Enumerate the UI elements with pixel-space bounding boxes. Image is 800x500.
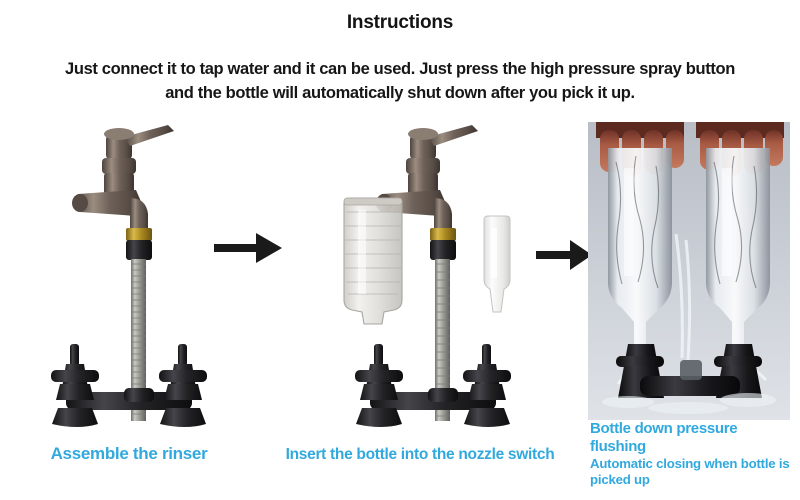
brass-adapter-icon: [430, 228, 456, 241]
step-2-illustration: [292, 112, 537, 430]
hose-collar-icon: [430, 240, 456, 260]
step-3-caption: Bottle down pressure flushing: [590, 420, 790, 455]
arrow-step2-to-step3: [534, 236, 594, 274]
nozzle-left-icon: [51, 344, 99, 400]
rinser-base-icon: [355, 344, 511, 427]
rinser-base-icon: [51, 344, 207, 427]
nozzle-left-icon: [355, 344, 403, 400]
hose-collar-icon: [126, 240, 152, 260]
inverted-bottle-icon: [344, 198, 402, 324]
step-2-caption: Insert the bottle into the nozzle switch: [270, 446, 570, 464]
rinser-with-bottle-drawing: [292, 112, 537, 430]
instructions-infographic: Instructions Just connect it to tap wate…: [0, 0, 800, 500]
arrow-step1-to-step2: [212, 228, 284, 268]
nozzle-right-icon: [463, 344, 511, 400]
page-title: Instructions: [0, 12, 800, 34]
brass-adapter-icon: [126, 228, 152, 241]
step-3-illustration: [588, 122, 790, 420]
rinsing-photo: [588, 122, 790, 420]
step-3-caption-secondary: Automatic closing when bottle is picked …: [590, 456, 795, 487]
step-1-caption: Assemble the rinser: [18, 444, 240, 464]
step-1-illustration: [18, 112, 240, 430]
spare-nozzle-bottle-icon: [484, 216, 510, 312]
page-subtitle: Just connect it to tap water and it can …: [62, 57, 738, 105]
rinser-assembly-drawing: [18, 112, 240, 430]
nozzle-right-icon: [159, 344, 207, 400]
faucet-icon: [72, 125, 174, 230]
